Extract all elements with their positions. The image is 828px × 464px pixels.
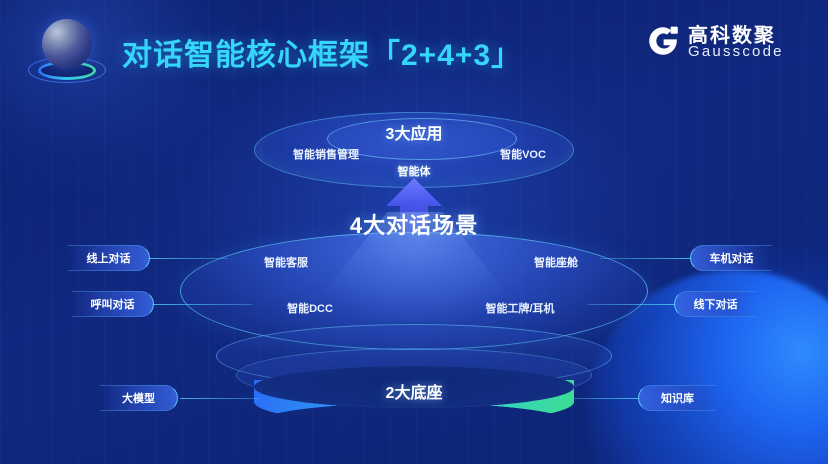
connector-line-right-1	[600, 258, 692, 259]
pill-in-car-conversation[interactable]: 车机对话	[690, 245, 772, 271]
scenario-label-customer-service: 智能客服	[226, 254, 346, 270]
pill-offline-conversation[interactable]: 线下对话	[674, 291, 756, 317]
foundation-title: 2大底座	[254, 379, 574, 403]
framework-diagram: 3大应用 智能销售管理 智能VOC 智能体 4大对话场景 智能客服 智能座舱 智…	[0, 96, 828, 464]
pill-online-conversation[interactable]: 线上对话	[68, 245, 150, 271]
connector-line-bottom-right	[572, 398, 640, 399]
pill-call-conversation[interactable]: 呼叫对话	[72, 291, 154, 317]
slide-header: 对话智能核心框架「2+4+3」 高科数聚 Gausscode	[0, 0, 828, 100]
sphere-ball-icon	[42, 19, 92, 69]
brand-logo: 高科数聚 Gausscode	[646, 18, 806, 70]
applications-title: 3大应用	[254, 120, 574, 144]
connector-line-left-1	[148, 258, 228, 259]
scenario-label-dcc: 智能DCC	[250, 300, 370, 316]
pill-knowledge-base[interactable]: 知识库	[638, 385, 716, 411]
gausscode-mark-icon	[646, 24, 680, 58]
pill-large-model[interactable]: 大模型	[100, 385, 178, 411]
connector-line-right-2	[588, 304, 676, 305]
scenario-label-badge-headset: 智能工牌/耳机	[450, 300, 590, 316]
scenario-label-cockpit: 智能座舱	[496, 254, 616, 270]
sphere-pedestal-icon	[28, 17, 104, 93]
application-label-voc: 智能VOC	[468, 146, 578, 162]
brand-name-en: Gausscode	[688, 43, 784, 60]
scenarios-title: 4大对话场景	[254, 208, 574, 240]
connector-line-bottom-left	[180, 398, 260, 399]
slide-canvas: 对话智能核心框架「2+4+3」 高科数聚 Gausscode 3大应用 智能销售…	[0, 0, 828, 464]
application-label-sales-management: 智能销售管理	[266, 146, 386, 162]
page-title: 对话智能核心框架「2+4+3」	[122, 30, 522, 74]
connector-line-left-2	[152, 304, 252, 305]
